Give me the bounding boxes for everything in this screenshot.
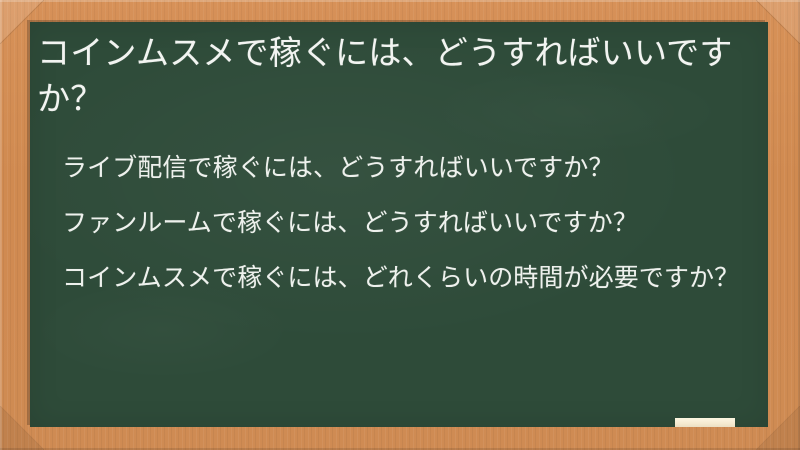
list-item: ライブ配信で稼ぐには、どうすればいいですか？ [62, 150, 752, 186]
board-title: コインムスメで稼ぐには、どうすればいいですか？ [37, 30, 753, 122]
chalk-stick-icon [675, 418, 735, 427]
chalkboard-surface: コインムスメで稼ぐには、どうすればいいですか？ ライブ配信で稼ぐには、どうすれば… [30, 22, 768, 427]
list-item: コインムスメで稼ぐには、どれくらいの時間が必要ですか？ [62, 260, 752, 296]
list-item: ファンルームで稼ぐには、どうすればいいですか？ [62, 205, 752, 241]
chalkboard-frame: コインムスメで稼ぐには、どうすればいいですか？ ライブ配信で稼ぐには、どうすれば… [0, 0, 800, 450]
board-question-list: ライブ配信で稼ぐには、どうすればいいですか？ ファンルームで稼ぐには、どうすれば… [62, 150, 752, 296]
